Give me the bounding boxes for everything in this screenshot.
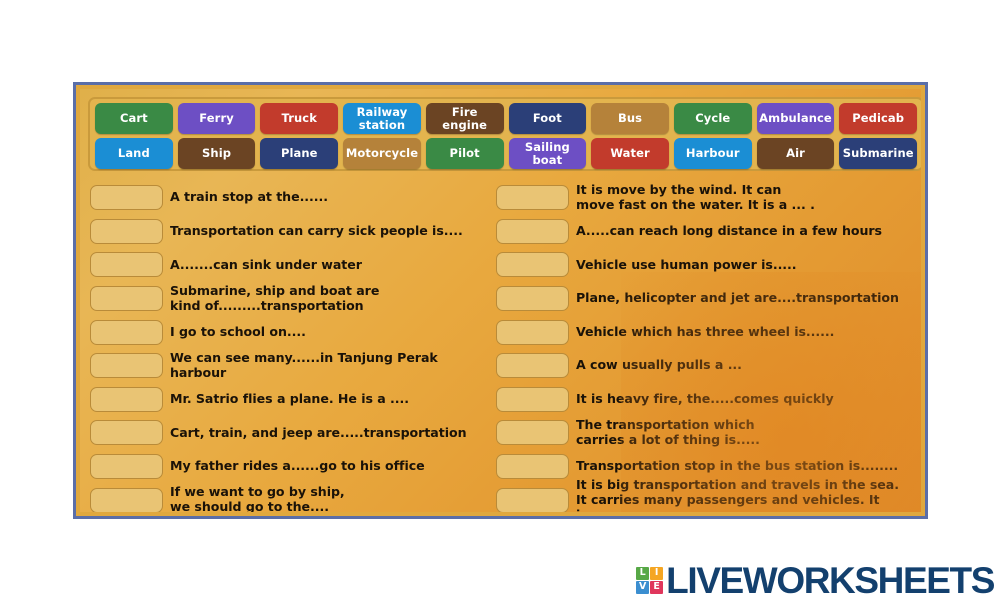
question-text: Plane, helicopter and jet are....transpo…: [576, 291, 902, 306]
word-bank: CartFerryTruckRailway stationFire engine…: [88, 97, 921, 171]
question-text: Submarine, ship and boat are kind of....…: [170, 284, 496, 314]
logo-square-e: E: [650, 581, 663, 594]
logo-square-l: L: [636, 567, 649, 580]
word-tile-ambulance[interactable]: Ambulance: [757, 103, 835, 134]
question-row: Vehicle which has three wheel is......: [492, 315, 902, 349]
question-text: A.....can reach long distance in a few h…: [576, 224, 902, 239]
question-row: A.....can reach long distance in a few h…: [492, 215, 902, 249]
footer: LIVE LIVEWORKSHEETS: [0, 553, 1000, 607]
question-row: I go to school on....: [86, 315, 496, 349]
question-text: A train stop at the......: [170, 190, 496, 205]
answer-blank[interactable]: [90, 454, 163, 479]
question-text: Mr. Satrio flies a plane. He is a ....: [170, 392, 496, 407]
answer-blank[interactable]: [90, 219, 163, 244]
word-tile-railway-station[interactable]: Railway station: [343, 103, 421, 134]
answer-blank[interactable]: [90, 387, 163, 412]
answer-blank[interactable]: [90, 320, 163, 345]
question-text: Transportation can carry sick people is.…: [170, 224, 496, 239]
question-row: Transportation can carry sick people is.…: [86, 215, 496, 249]
question-text: Cart, train, and jeep are.....transporta…: [170, 426, 496, 441]
question-text: If we want to go by ship, we should go t…: [170, 485, 496, 512]
word-tile-cycle[interactable]: Cycle: [674, 103, 752, 134]
liveworksheets-logo-squares: LIVE: [636, 567, 663, 594]
question-row: Vehicle use human power is.....: [492, 248, 902, 282]
question-row: My father rides a......go to his office: [86, 450, 496, 484]
question-text: My father rides a......go to his office: [170, 459, 496, 474]
worksheet-canvas: CartFerryTruckRailway stationFire engine…: [80, 89, 921, 512]
question-text: It is big transportation and travels in …: [576, 478, 902, 512]
word-tile-pilot[interactable]: Pilot: [426, 138, 504, 169]
question-row: Plane, helicopter and jet are....transpo…: [492, 282, 902, 316]
question-row: We can see many......in Tanjung Perak ha…: [86, 349, 496, 383]
question-text: A.......can sink under water: [170, 258, 496, 273]
question-row: It is move by the wind. It can move fast…: [492, 181, 902, 215]
answer-blank[interactable]: [496, 185, 569, 210]
question-text: The transportation which carries a lot o…: [576, 418, 902, 448]
word-tile-ship[interactable]: Ship: [178, 138, 256, 169]
word-tile-cart[interactable]: Cart: [95, 103, 173, 134]
answer-blank[interactable]: [90, 488, 163, 512]
word-tile-land[interactable]: Land: [95, 138, 173, 169]
answer-blank[interactable]: [90, 252, 163, 277]
word-bank-row-1: CartFerryTruckRailway stationFire engine…: [95, 103, 917, 134]
worksheet-page: CartFerryTruckRailway stationFire engine…: [0, 0, 1000, 607]
liveworksheets-wordmark: LIVEWORKSHEETS: [666, 562, 994, 599]
answer-blank[interactable]: [90, 286, 163, 311]
answer-blank[interactable]: [90, 353, 163, 378]
question-row: Submarine, ship and boat are kind of....…: [86, 282, 496, 316]
question-text: It is move by the wind. It can move fast…: [576, 183, 902, 213]
answer-blank[interactable]: [496, 219, 569, 244]
logo-square-v: V: [636, 581, 649, 594]
question-text: A cow usually pulls a ...: [576, 358, 902, 373]
question-text: We can see many......in Tanjung Perak ha…: [170, 351, 496, 381]
question-row: A train stop at the......: [86, 181, 496, 215]
word-tile-water[interactable]: Water: [591, 138, 669, 169]
worksheet-card: CartFerryTruckRailway stationFire engine…: [73, 82, 928, 519]
question-column-right: It is move by the wind. It can move fast…: [492, 181, 902, 512]
question-column-left: A train stop at the......Transportation …: [86, 181, 496, 512]
word-tile-plane[interactable]: Plane: [260, 138, 338, 169]
answer-blank[interactable]: [90, 185, 163, 210]
word-tile-foot[interactable]: Foot: [509, 103, 587, 134]
answer-blank[interactable]: [496, 420, 569, 445]
question-row: If we want to go by ship, we should go t…: [86, 483, 496, 512]
word-tile-submarine[interactable]: Submarine: [839, 138, 917, 169]
answer-blank[interactable]: [496, 320, 569, 345]
question-text: Vehicle use human power is.....: [576, 258, 902, 273]
question-text: I go to school on....: [170, 325, 496, 340]
question-row: The transportation which carries a lot o…: [492, 416, 902, 450]
question-text: It is heavy fire, the.....comes quickly: [576, 392, 902, 407]
liveworksheets-logo: LIVE LIVEWORKSHEETS: [636, 562, 994, 599]
answer-blank[interactable]: [496, 488, 569, 512]
question-text: Vehicle which has three wheel is......: [576, 325, 902, 340]
word-tile-motorcycle[interactable]: Motorcycle: [343, 138, 421, 169]
word-tile-fire-engine[interactable]: Fire engine: [426, 103, 504, 134]
word-tile-truck[interactable]: Truck: [260, 103, 338, 134]
question-row: Cart, train, and jeep are.....transporta…: [86, 416, 496, 450]
word-tile-harbour[interactable]: Harbour: [674, 138, 752, 169]
answer-blank[interactable]: [90, 420, 163, 445]
question-text: Transportation stop in the bus station i…: [576, 459, 902, 474]
word-tile-bus[interactable]: Bus: [591, 103, 669, 134]
answer-blank[interactable]: [496, 454, 569, 479]
question-row: It is big transportation and travels in …: [492, 483, 902, 512]
logo-square-i: I: [650, 567, 663, 580]
question-row: It is heavy fire, the.....comes quickly: [492, 383, 902, 417]
word-tile-sailing-boat[interactable]: Sailing boat: [509, 138, 587, 169]
question-row: A cow usually pulls a ...: [492, 349, 902, 383]
answer-blank[interactable]: [496, 286, 569, 311]
answer-blank[interactable]: [496, 252, 569, 277]
answer-blank[interactable]: [496, 353, 569, 378]
word-tile-air[interactable]: Air: [757, 138, 835, 169]
word-tile-pedicab[interactable]: Pedicab: [839, 103, 917, 134]
question-row: Mr. Satrio flies a plane. He is a ....: [86, 383, 496, 417]
question-row: A.......can sink under water: [86, 248, 496, 282]
word-bank-row-2: LandShipPlaneMotorcyclePilotSailing boat…: [95, 138, 917, 169]
word-tile-ferry[interactable]: Ferry: [178, 103, 256, 134]
answer-blank[interactable]: [496, 387, 569, 412]
